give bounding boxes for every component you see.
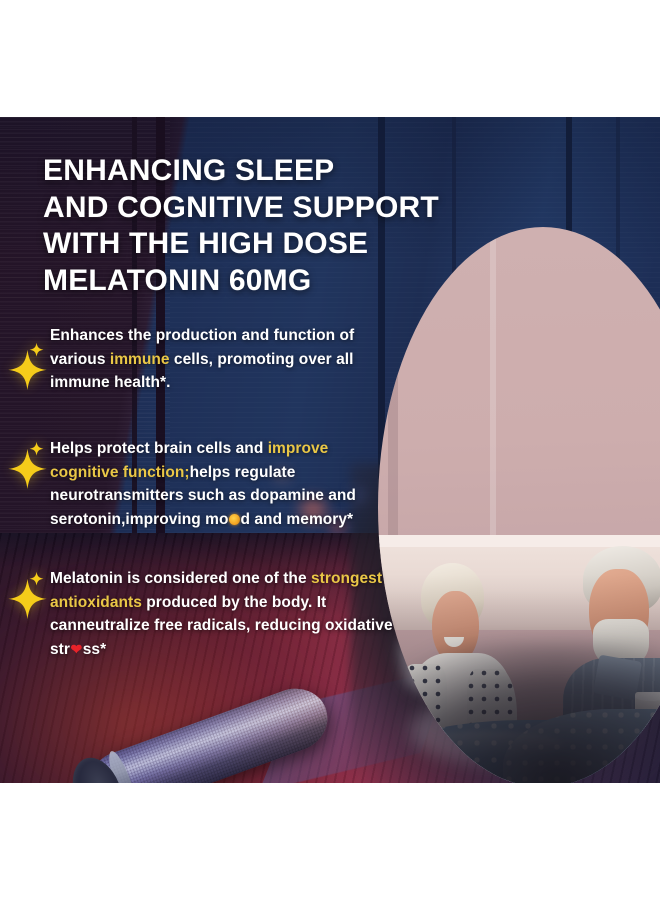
headline-line-4: MELATONIN 60MG bbox=[43, 263, 463, 300]
list-item-text: Melatonin is considered one of the stron… bbox=[50, 567, 396, 661]
photo-vignette bbox=[378, 227, 660, 783]
list-item-text: Helps protect brain cells and improve co… bbox=[50, 437, 396, 531]
bullet-2-before: Helps protect brain cells and bbox=[50, 440, 268, 457]
bullet-2-after-b: d and memory* bbox=[241, 511, 354, 528]
headline-line-1: ENHANCING SLEEP bbox=[43, 153, 463, 190]
bullet-1-highlight: immune bbox=[110, 351, 170, 368]
infographic-page: ENHANCING SLEEP AND COGNITIVE SUPPORT WI… bbox=[0, 0, 660, 900]
heart-emoji-icon: ❤ bbox=[70, 642, 82, 656]
couple-photo-oval bbox=[378, 227, 660, 783]
infographic-panel: ENHANCING SLEEP AND COGNITIVE SUPPORT WI… bbox=[0, 117, 660, 783]
list-item-text: Enhances the production and function of … bbox=[50, 324, 396, 395]
headline-line-2: AND COGNITIVE SUPPORT bbox=[43, 190, 463, 227]
bullet-3-before: Melatonin is considered one of the bbox=[50, 570, 311, 587]
bullet-3-after-b: ss* bbox=[83, 641, 106, 658]
sun-emoji-icon bbox=[229, 514, 240, 525]
page-title: ENHANCING SLEEP AND COGNITIVE SUPPORT WI… bbox=[43, 153, 463, 299]
headline-line-3: WITH THE HIGH DOSE bbox=[43, 226, 463, 263]
